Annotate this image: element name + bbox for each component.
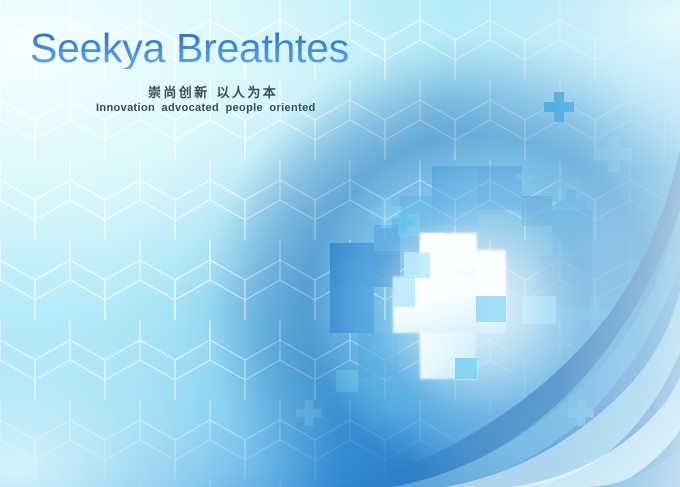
- mosaic-square: [478, 166, 522, 210]
- decorative-cross-cluster: [0, 0, 680, 487]
- mosaic-square: [336, 370, 358, 392]
- mosaic-square: [552, 210, 592, 256]
- cross-right-pale: [596, 136, 632, 172]
- cross-mid-left: [370, 196, 402, 228]
- mosaic-square: [376, 370, 416, 406]
- background-deep-blue-pool: [0, 0, 680, 487]
- mosaic-square: [398, 214, 420, 236]
- cross-bottom-large: [352, 386, 396, 430]
- mosaic-square: [558, 176, 580, 198]
- cross-accent-top-right: [544, 92, 574, 122]
- mosaic-square-blocks: [0, 0, 680, 487]
- cross-radial-glow: [0, 0, 680, 487]
- page-title: Seekya Breathtes: [30, 28, 349, 69]
- swoosh-pale: [512, 376, 680, 487]
- mosaic-square: [330, 243, 374, 287]
- mosaic-square: [432, 166, 478, 226]
- swoosh-bottom: [586, 448, 680, 487]
- hexagon-grid: [0, 0, 680, 487]
- background-topright-highlight: [0, 0, 680, 487]
- swoosh-ribbons: [0, 0, 680, 487]
- cross-right-lower: [580, 300, 610, 330]
- cross-bottom-small: [296, 400, 322, 426]
- cross-mid-small: [392, 212, 414, 234]
- cross-bottom-right: [568, 400, 594, 426]
- mosaic-square: [456, 360, 478, 380]
- mosaic-square: [330, 287, 374, 333]
- mosaic-square: [508, 330, 556, 378]
- tagline-chinese: 崇尚创新 以人为本: [148, 82, 278, 101]
- mosaic-square: [358, 333, 398, 377]
- background-base-gradient: [0, 0, 680, 487]
- mosaic-square: [522, 196, 552, 226]
- cross-right-mid: [556, 190, 586, 220]
- cross-lower-left: [372, 330, 406, 364]
- mosaic-square: [540, 256, 592, 306]
- tagline-english: Innovation advocated people oriented: [96, 102, 316, 114]
- background-bottomleft-highlight: [0, 0, 680, 487]
- mosaic-square: [374, 225, 400, 251]
- background-right-wash: [0, 0, 680, 487]
- mosaic-square: [374, 251, 400, 287]
- swoosh-light: [446, 292, 680, 487]
- mosaic-square: [400, 196, 432, 226]
- swoosh-mid-blue: [392, 208, 680, 487]
- poster-canvas: Seekya Breathtes 崇尚创新 以人为本 Innovation ad…: [0, 0, 680, 487]
- mosaic-square: [404, 252, 430, 278]
- mosaic-square: [522, 296, 556, 324]
- glow-rim: [0, 0, 680, 487]
- central-medical-cross: [0, 0, 680, 487]
- swoosh-deep-blue: [332, 150, 680, 487]
- cross-tiny-upper: [516, 168, 534, 186]
- cross-small-upper: [460, 112, 480, 132]
